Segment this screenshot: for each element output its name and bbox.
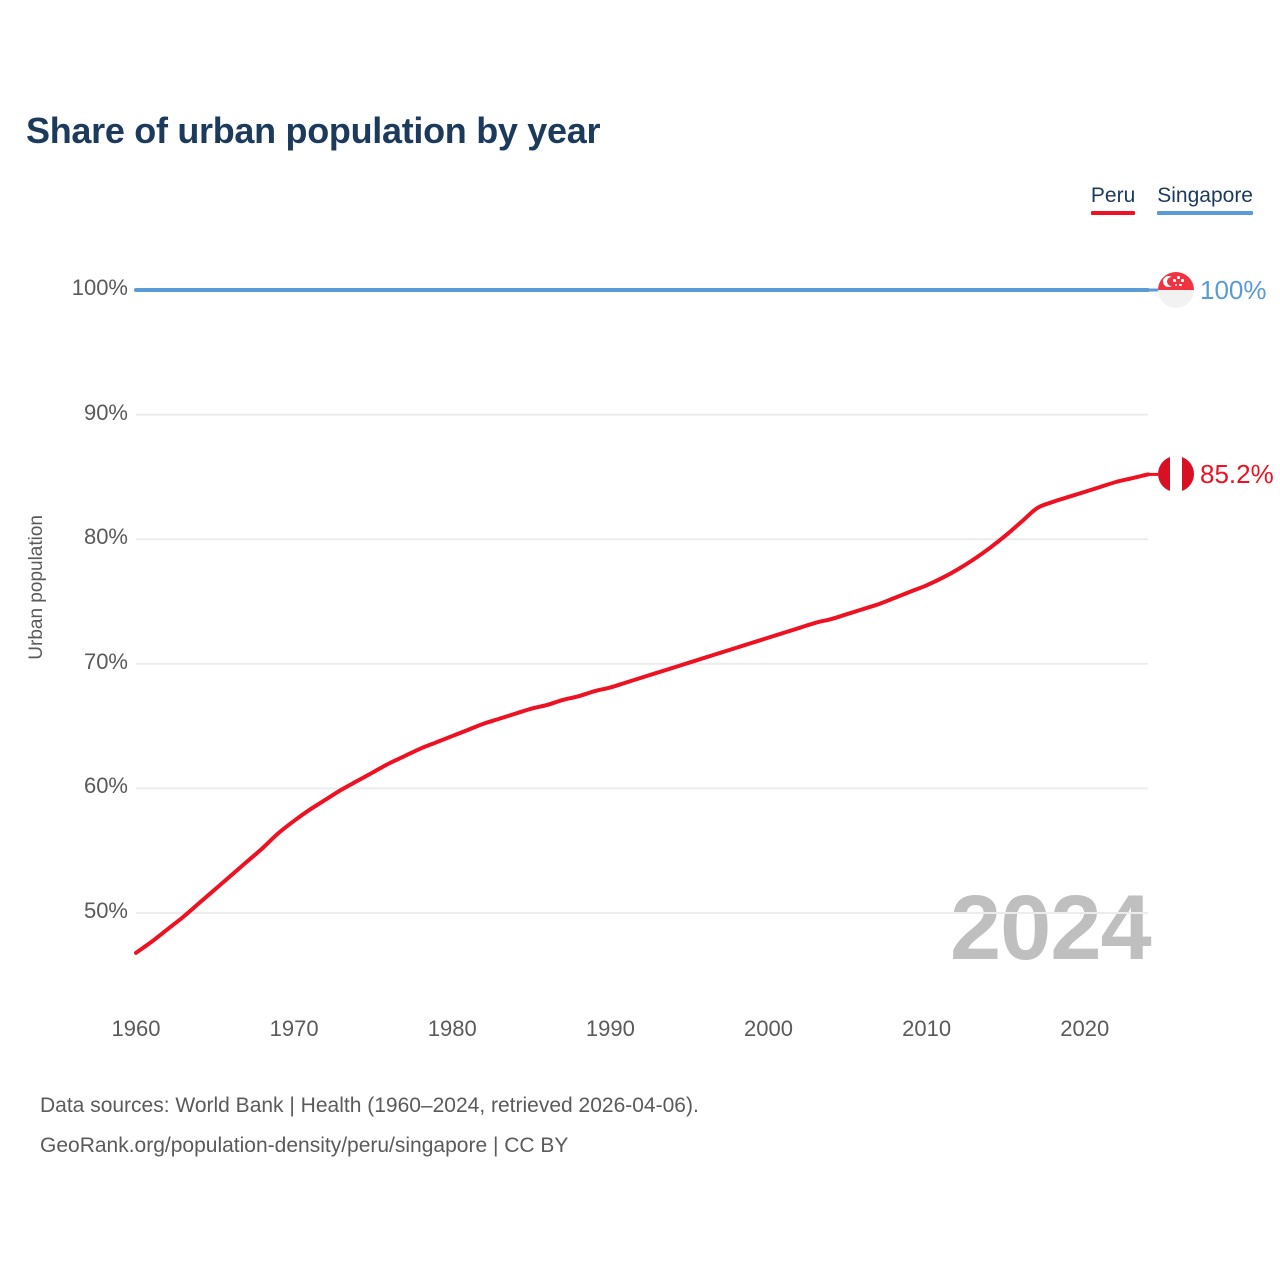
legend-rule-peru [1091,211,1135,215]
x-axis-tick-label: 2010 [902,1016,951,1042]
footer-line-attribution: GeoRank.org/population-density/peru/sing… [40,1126,699,1166]
endpoint-value-singapore: 100% [1200,275,1267,306]
endpoint-peru: 85.2% [1158,456,1274,492]
singapore-flag-icon [1158,272,1194,308]
legend-label-peru: Peru [1091,185,1135,207]
endpoint-singapore: 100% [1158,272,1267,308]
y-axis-tick-label: 50% [58,898,128,924]
legend-item-peru[interactable]: Peru [1091,185,1135,215]
y-axis-tick-label: 70% [58,649,128,675]
footer: Data sources: World Bank | Health (1960–… [40,1086,699,1167]
legend-label-singapore: Singapore [1157,185,1253,207]
legend-item-singapore[interactable]: Singapore [1157,185,1253,215]
x-axis-tick-label: 1960 [112,1016,161,1042]
chart-legend: Peru Singapore [1091,185,1253,215]
y-axis-tick-label: 100% [58,275,128,301]
legend-rule-singapore [1157,211,1253,215]
year-watermark: 2024 [950,882,1151,974]
footer-line-sources: Data sources: World Bank | Health (1960–… [40,1086,699,1126]
endpoint-value-peru: 85.2% [1200,459,1274,490]
chart-container: Share of urban population by year Peru S… [0,0,1280,1280]
y-axis-title: Urban population [26,515,48,660]
x-axis-tick-label: 2020 [1060,1016,1109,1042]
x-axis-tick-label: 1990 [586,1016,635,1042]
series-lines [136,290,1148,953]
x-axis-tick-label: 1980 [428,1016,477,1042]
y-axis-tick-label: 90% [58,400,128,426]
peru-flag-icon [1158,456,1194,492]
y-axis-tick-label: 60% [58,773,128,799]
endpoint-connectors [1146,290,1162,474]
x-axis-tick-label: 2000 [744,1016,793,1042]
x-axis-tick-label: 1970 [270,1016,319,1042]
gridlines [136,415,1148,913]
page-title: Share of urban population by year [26,110,600,152]
y-axis-tick-label: 80% [58,524,128,550]
